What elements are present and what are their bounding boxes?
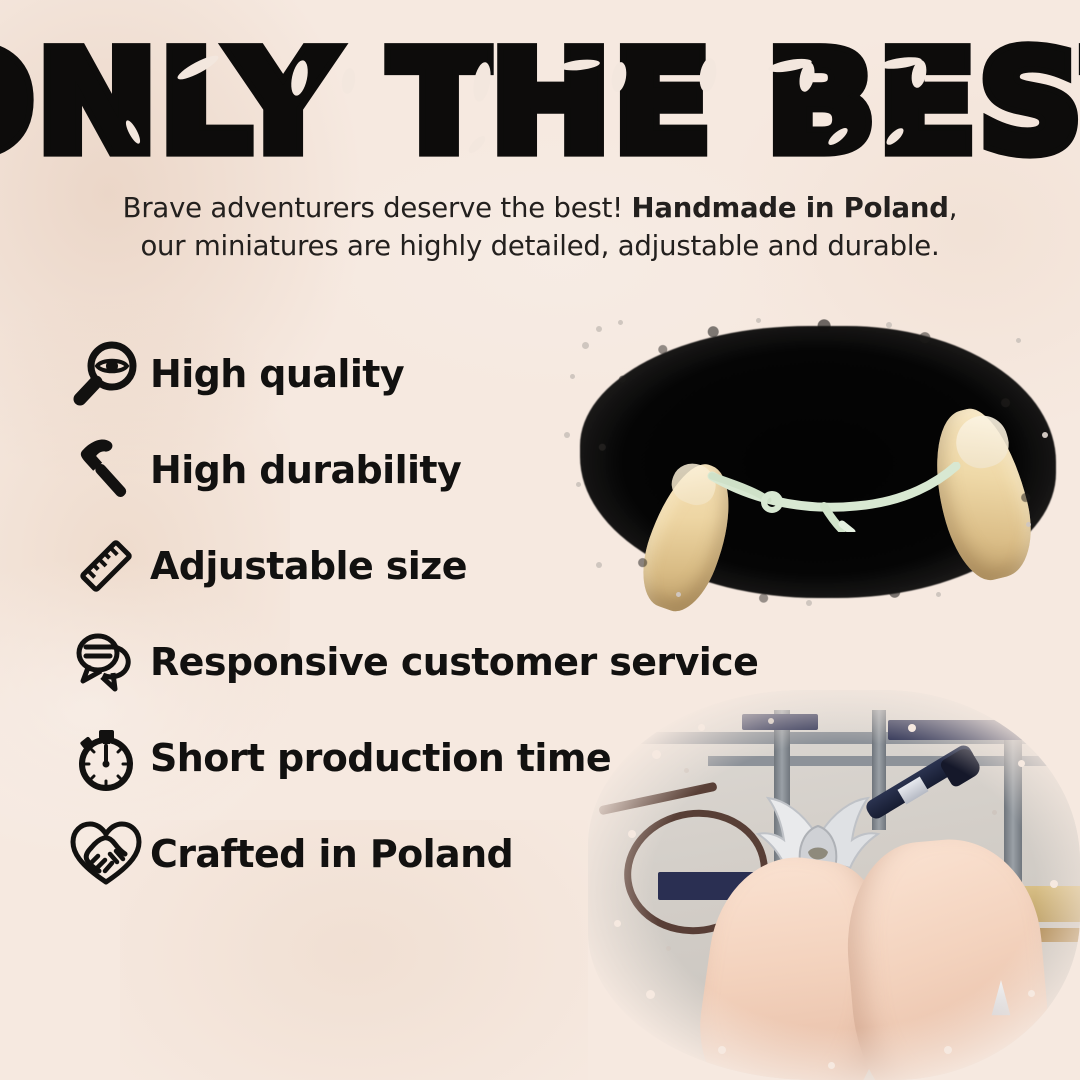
subtitle-text-normal: Brave adventurers deserve the best!	[123, 192, 632, 224]
subtitle: Brave adventurers deserve the best! Hand…	[0, 190, 1080, 266]
magnifier-eye-icon	[62, 334, 150, 414]
parts-tray	[888, 720, 1058, 740]
stopwatch-icon	[62, 718, 150, 798]
feature-list: High quality High durability	[62, 326, 802, 902]
subtitle-line-2: our miniatures are highly detailed, adju…	[0, 228, 1080, 266]
feature-label: High quality	[150, 352, 404, 396]
feature-item: Adjustable size	[62, 518, 802, 614]
hammer-icon	[62, 430, 150, 510]
feature-label: High durability	[150, 448, 461, 492]
feature-label: Crafted in Poland	[150, 832, 513, 876]
feature-item: Short production time	[62, 710, 802, 806]
feature-label: Responsive customer service	[150, 640, 758, 684]
title-block: ONLY THE BEST	[0, 34, 1080, 158]
feature-label: Adjustable size	[150, 544, 467, 588]
subtitle-line-1: Brave adventurers deserve the best! Hand…	[0, 190, 1080, 228]
heart-handshake-icon	[62, 814, 150, 894]
subtitle-text-bold: Handmade in Poland	[632, 192, 949, 224]
subtitle-text-tail: ,	[949, 192, 958, 224]
feature-label: Short production time	[150, 736, 611, 780]
feature-item: Responsive customer service	[62, 614, 802, 710]
ruler-icon	[62, 526, 150, 606]
page-title: ONLY THE BEST	[0, 34, 1080, 173]
feature-item: High durability	[62, 422, 802, 518]
feature-item: High quality	[62, 326, 802, 422]
feature-item: Crafted in Poland	[62, 806, 802, 902]
speech-bubbles-icon	[62, 622, 150, 702]
poster-canvas: ONLY THE BEST Brave adventurers deserve …	[0, 0, 1080, 1080]
